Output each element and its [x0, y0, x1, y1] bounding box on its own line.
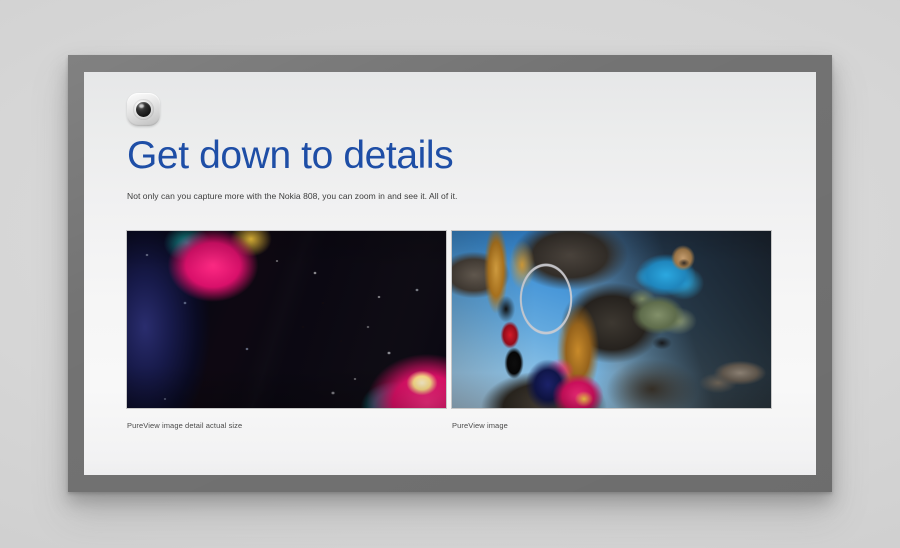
gallery-item[interactable]: PureView image detail actual size — [127, 231, 446, 431]
gallery-item-caption: PureView image detail actual size — [127, 421, 446, 431]
screenshot-stage: Get down to details Not only can you cap… — [0, 0, 900, 548]
page-title: Get down to details — [127, 134, 788, 178]
pureview-detail-photo[interactable] — [127, 231, 446, 408]
gallery-item-caption: PureView image — [452, 421, 771, 431]
page-subtitle: Not only can you capture more with the N… — [127, 190, 788, 202]
pureview-full-photo[interactable] — [452, 231, 771, 408]
gallery-item[interactable]: PureView image — [452, 231, 771, 431]
screen-panel: Get down to details Not only can you cap… — [84, 72, 816, 475]
device-frame: Get down to details Not only can you cap… — [68, 55, 832, 492]
page-content: Get down to details Not only can you cap… — [127, 93, 788, 475]
camera-lens-glint — [139, 104, 144, 108]
camera-lens-icon — [127, 93, 160, 126]
image-gallery: PureView image detail actual size PureVi… — [127, 231, 788, 431]
